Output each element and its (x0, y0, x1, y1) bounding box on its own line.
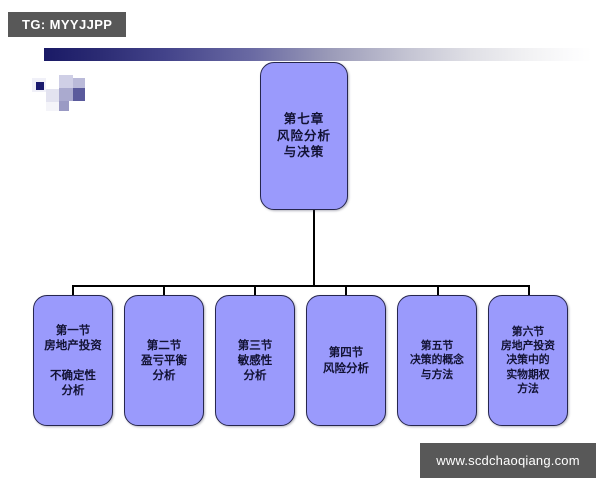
decor-square-6 (46, 102, 59, 111)
node-section-4-label: 第四节 风险分析 (323, 345, 369, 375)
decor-square-4 (46, 76, 59, 89)
decor-square-9 (59, 101, 69, 111)
node-section-1[interactable]: 第一节 房地产投资 不确定性 分析 (33, 295, 113, 426)
node-section-2[interactable]: 第二节 盈亏平衡 分析 (124, 295, 204, 426)
decor-square-accent (36, 82, 44, 90)
connector-trunk-vertical (313, 210, 315, 286)
connector-horizontal-bus (72, 285, 530, 287)
node-section-5-label: 第五节 决策的概念 与方法 (410, 339, 464, 382)
node-section-6[interactable]: 第六节 房地产投资 决策中的 实物期权 方法 (488, 295, 568, 426)
node-section-5[interactable]: 第五节 决策的概念 与方法 (397, 295, 477, 426)
decor-square-7 (59, 75, 73, 88)
node-section-2-label: 第二节 盈亏平衡 分析 (141, 338, 187, 384)
node-section-3-label: 第三节 敏感性 分析 (238, 338, 273, 384)
decor-square-5 (46, 89, 59, 102)
node-chapter-root[interactable]: 第七章 风险分析 与决策 (260, 62, 348, 210)
node-chapter-root-label: 第七章 风险分析 与决策 (277, 111, 331, 161)
node-section-3[interactable]: 第三节 敏感性 分析 (215, 295, 295, 426)
decor-square-10 (73, 78, 85, 88)
node-section-4[interactable]: 第四节 风险分析 (306, 295, 386, 426)
decor-square-8 (59, 88, 73, 101)
gradient-bar (44, 48, 592, 61)
decor-square-11 (73, 88, 85, 101)
node-section-6-label: 第六节 房地产投资 决策中的 实物期权 方法 (501, 325, 555, 396)
site-watermark: www.scdchaoqiang.com (420, 443, 596, 478)
slide-canvas: TG: MYYJJPP 第七章 风险分析 与决策 第一节 房地产投资 不确定性 … (0, 0, 600, 480)
node-section-1-label: 第一节 房地产投资 不确定性 分析 (44, 323, 102, 399)
tg-badge: TG: MYYJJPP (8, 12, 126, 37)
decor-square-2 (32, 92, 46, 106)
